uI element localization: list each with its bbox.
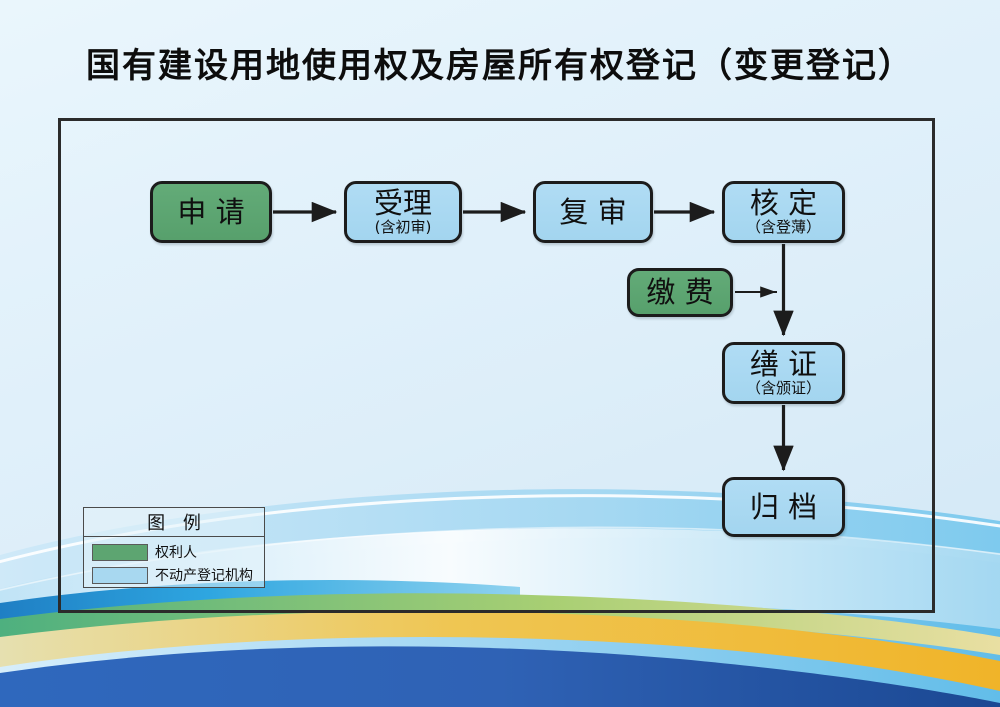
flow-node-accept-label: 受理	[374, 188, 432, 218]
flow-node-accept-sublabel: (含初审)	[375, 220, 432, 236]
flow-node-review-label: 复 审	[559, 197, 626, 227]
legend-box: 图 例 权利人 不动产登记机构	[83, 507, 265, 588]
legend-item-rights-holder: 权利人	[92, 542, 264, 562]
flow-node-payment[interactable]: 缴 费	[627, 268, 733, 317]
flow-node-certificate-sublabel: （含颁证）	[746, 381, 821, 397]
legend-item-registry: 不动产登记机构	[92, 565, 264, 585]
page-title: 国有建设用地使用权及房屋所有权登记（变更登记）	[0, 38, 1000, 87]
legend-swatch-green	[92, 544, 148, 561]
flow-node-apply[interactable]: 申 请	[150, 181, 272, 243]
flow-node-verify-label: 核 定	[750, 188, 817, 218]
flow-node-archive[interactable]: 归 档	[722, 477, 845, 537]
poster-canvas: 国有建设用地使用权及房屋所有权登记（变更登记） 申 请 受理 (含初审)	[0, 0, 1000, 707]
legend-swatch-blue	[92, 567, 148, 584]
flow-node-archive-label: 归 档	[750, 492, 817, 522]
legend-rows: 权利人 不动产登记机构	[84, 537, 264, 585]
flow-node-certificate-label: 缮 证	[750, 349, 817, 379]
flow-node-verify[interactable]: 核 定 （含登薄）	[722, 181, 845, 243]
legend-label-rights-holder: 权利人	[155, 542, 197, 562]
flow-node-accept[interactable]: 受理 (含初审)	[344, 181, 462, 243]
flow-node-apply-label: 申 请	[177, 197, 244, 227]
flow-node-verify-sublabel: （含登薄）	[746, 220, 821, 236]
legend-label-registry: 不动产登记机构	[155, 565, 253, 585]
flow-node-certificate[interactable]: 缮 证 （含颁证）	[722, 342, 845, 404]
legend-title: 图 例	[84, 508, 264, 537]
flow-node-payment-label: 缴 费	[646, 277, 713, 307]
flow-node-review[interactable]: 复 审	[533, 181, 653, 243]
